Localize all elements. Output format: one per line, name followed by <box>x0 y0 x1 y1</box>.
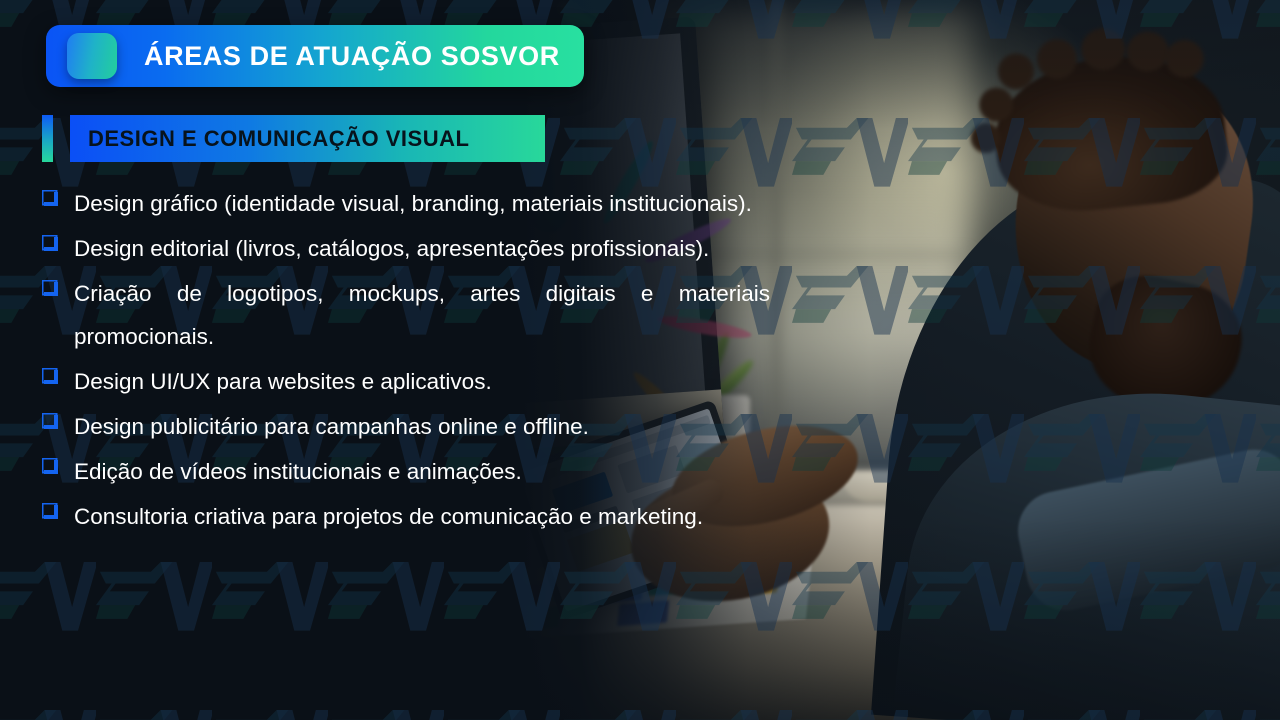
square-bullet-icon <box>42 182 74 212</box>
list-item: Design UI/UX para websites e aplicativos… <box>42 360 772 403</box>
subtitle-bar: DESIGN E COMUNICAÇÃO VISUAL <box>70 115 545 162</box>
page-title: ÁREAS DE ATUAÇÃO SOSVOR <box>144 41 560 72</box>
list-item: Design editorial (livros, catálogos, apr… <box>42 227 772 270</box>
square-bullet-icon <box>42 495 74 525</box>
list-item: Criação de logotipos, mockups, artes dig… <box>42 272 772 358</box>
list-item-text: Design gráfico (identidade visual, brand… <box>74 182 770 225</box>
rounded-square-icon <box>67 33 117 79</box>
list-item-text: Design publicitário para campanhas onlin… <box>74 405 770 448</box>
slide: ÁREAS DE ATUAÇÃO SOSVOR DESIGN E COMUNIC… <box>0 0 1280 720</box>
bullet-list: Design gráfico (identidade visual, brand… <box>42 182 772 540</box>
square-bullet-icon <box>42 405 74 435</box>
list-item-text: Design editorial (livros, catálogos, apr… <box>74 227 770 270</box>
list-item-text: Edição de vídeos institucionais e animaç… <box>74 450 770 493</box>
subtitle-accent-bar <box>42 115 53 162</box>
square-bullet-icon <box>42 450 74 480</box>
square-bullet-icon <box>42 227 74 257</box>
list-item: Edição de vídeos institucionais e animaç… <box>42 450 772 493</box>
subtitle-label: DESIGN E COMUNICAÇÃO VISUAL <box>88 126 469 152</box>
list-item-text: Consultoria criativa para projetos de co… <box>74 495 770 538</box>
list-item: Design gráfico (identidade visual, brand… <box>42 182 772 225</box>
header-pill: ÁREAS DE ATUAÇÃO SOSVOR <box>46 25 584 87</box>
square-bullet-icon <box>42 272 74 302</box>
list-item-text: Design UI/UX para websites e aplicativos… <box>74 360 770 403</box>
section-subtitle: DESIGN E COMUNICAÇÃO VISUAL <box>42 115 545 162</box>
list-item: Consultoria criativa para projetos de co… <box>42 495 772 538</box>
list-item-text: Criação de logotipos, mockups, artes dig… <box>74 272 770 358</box>
square-bullet-icon <box>42 360 74 390</box>
list-item: Design publicitário para campanhas onlin… <box>42 405 772 448</box>
